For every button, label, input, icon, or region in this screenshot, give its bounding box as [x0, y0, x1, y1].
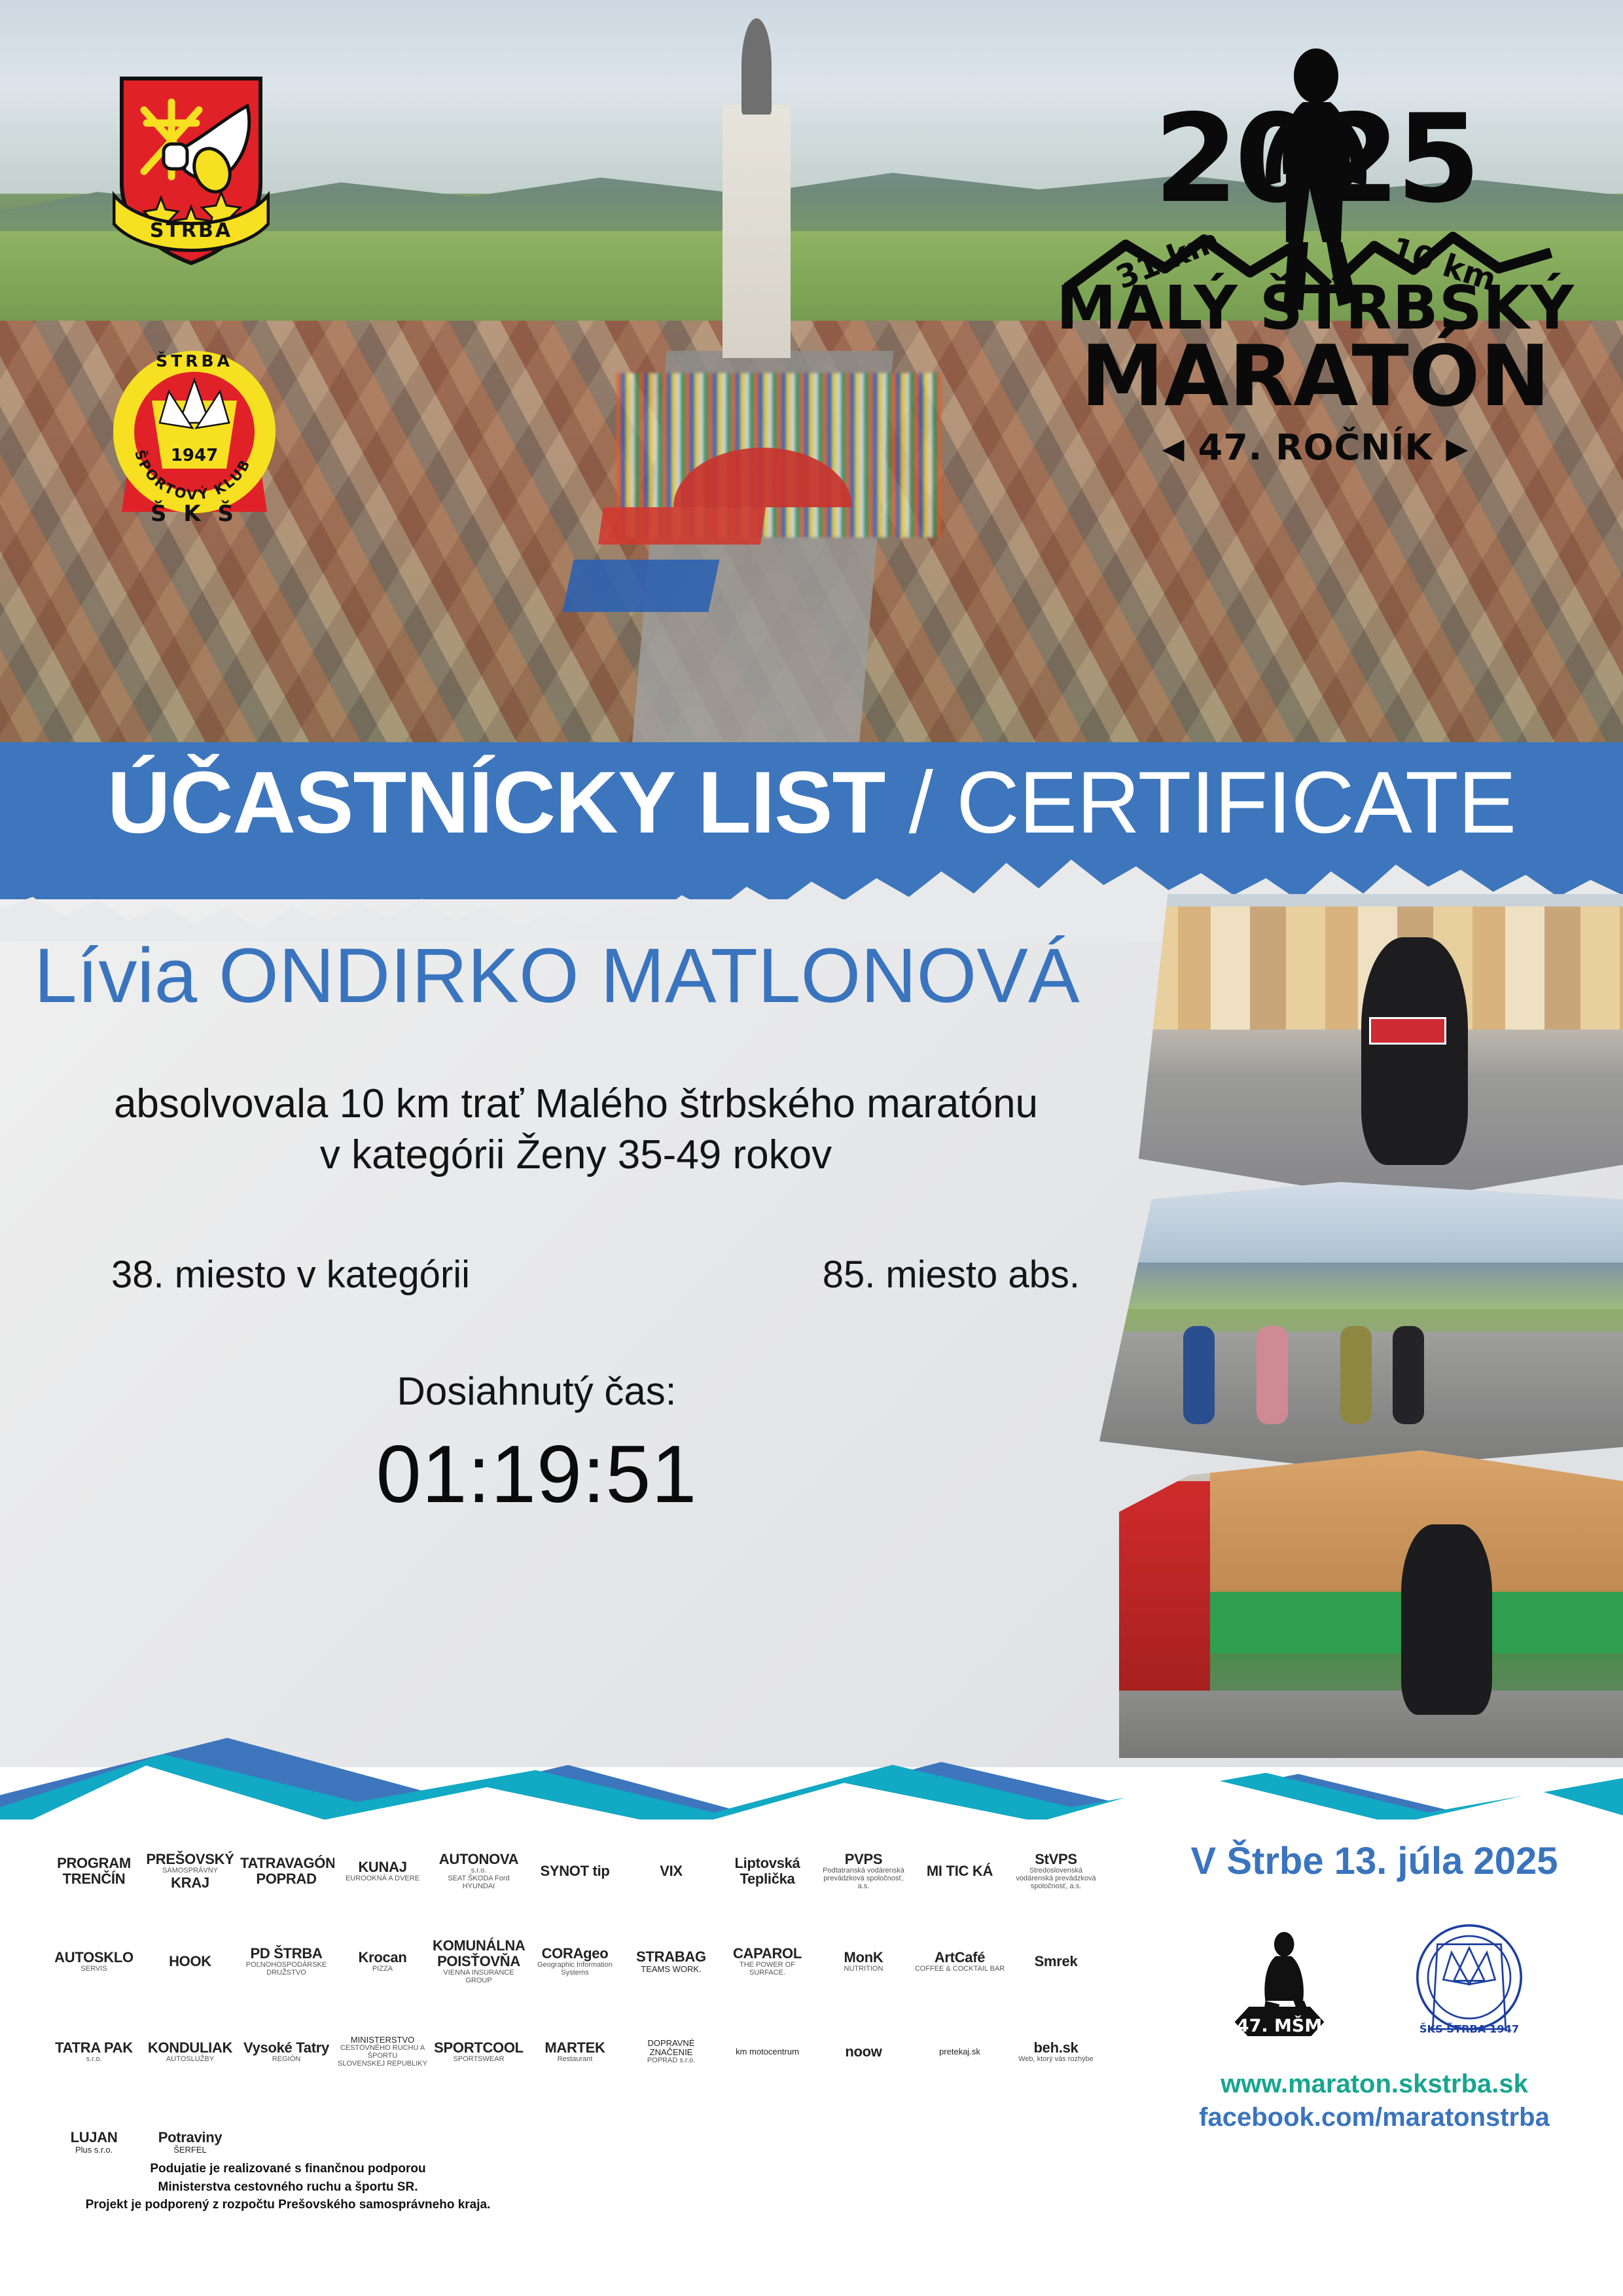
fine-print-line-1: Podujatie je realizované s finančnou pod… — [39, 2160, 537, 2178]
photo2-valley — [1099, 1263, 1623, 1308]
sponsor-logo[interactable]: KONDULIAKAUTOSLUŽBY — [142, 2007, 238, 2097]
sponsor-logo[interactable]: AUTONOVAs.r.o.SEAT ŠKODA Ford HYUNDAI — [431, 1826, 527, 1916]
sponsor-logo[interactable]: MonKNUTRITION — [815, 1916, 912, 2007]
photo2-sky — [1099, 1182, 1623, 1268]
description-line-2: v kategórii Ženy 35-49 rokov — [0, 1130, 1152, 1181]
sponsor-logo[interactable]: PREŠOVSKÝSAMOSPRÁVNYKRAJ — [142, 1826, 238, 1916]
sponsor-logo[interactable]: HOOK — [142, 1916, 238, 2007]
website-link[interactable]: www.maraton.skstrba.sk — [1152, 2070, 1597, 2099]
photo2-runner-4 — [1393, 1326, 1424, 1424]
sponsor-logo[interactable]: beh.skWeb, ktorý vás rozhýbe — [1008, 2007, 1104, 2097]
certificate-description: absolvovala 10 km trať Malého štrbského … — [0, 1079, 1178, 1181]
sponsor-logo[interactable]: PVPSPodtatranská vodárenská prevádzková … — [815, 1826, 912, 1916]
photo3-red-costume — [1119, 1481, 1210, 1709]
sponsor-footer: PROGRAM TRENČÍN PREŠOVSKÝSAMOSPRÁVNYKRAJ… — [0, 1820, 1623, 2296]
certificate-banner-text: ÚČASTNÍCKY LIST / CERTIFICATE — [0, 759, 1623, 847]
strba-coat-of-arms: ŠTRBA — [113, 72, 270, 268]
sks-year-label: 1947 — [171, 446, 218, 465]
banner-separator: / — [885, 754, 956, 852]
sponsor-logo[interactable]: ArtCaféCOFFEE & COCKTAIL BAR — [912, 1916, 1008, 2007]
msm-stamp: 47. MŠM — [1221, 1918, 1338, 2039]
sponsor-logo[interactable]: SYNOT tip — [527, 1826, 623, 1916]
sponsor-logo[interactable]: MINISTERSTVOCESTOVNÉHO RUCHU A ŠPORTUSLO… — [334, 2007, 431, 2097]
sponsor-logo[interactable]: AUTOSKLOSERVIS — [46, 1916, 142, 2007]
hero-blue-tent — [563, 560, 720, 612]
photo1-bib-number — [1369, 1017, 1446, 1045]
sponsor-logo[interactable]: StVPSStredoslovenská vodárenská prevádzk… — [1008, 1826, 1104, 1916]
photo1-runner — [1361, 937, 1468, 1165]
sponsor-logo[interactable]: KUNAJEUROOKNÁ A DVERE — [334, 1826, 431, 1916]
sponsor-logo[interactable]: Vysoké TatryREGIÓN — [238, 2007, 334, 2097]
finish-time-value: 01:19:51 — [0, 1428, 1178, 1521]
footer-right-column: V Štrbe 13. júla 2025 47. MŠM — [1152, 1820, 1597, 2132]
banner-title-sk: ÚČASTNÍCKY LIST — [107, 754, 885, 852]
photo3-runner — [1401, 1524, 1492, 1715]
sponsor-logo[interactable]: MARTEKRestaurant — [527, 2007, 623, 2097]
sponsor-logo[interactable]: STRABAGTEAMS WORK. — [623, 1916, 719, 2007]
sponsor-logo[interactable]: TATRAVAGÓNKAPOPRAD — [238, 1826, 334, 1916]
crest-label: ŠTRBA — [150, 218, 232, 242]
sponsor-logo-grid: PROGRAM TRENČÍN PREŠOVSKÝSAMOSPRÁVNYKRAJ… — [46, 1826, 1152, 2187]
sks-bottom-label: Š K Š — [151, 500, 238, 527]
sponsor-logo[interactable]: KrocanPIZZA — [334, 1916, 431, 2007]
sponsor-logo[interactable]: pretekaj.sk — [912, 2007, 1008, 2097]
hero-red-tent — [598, 507, 766, 545]
place-absolute: 85. miesto abs. — [823, 1253, 1080, 1297]
footer-links: www.maraton.skstrba.sk facebook.com/mara… — [1152, 2070, 1597, 2132]
sponsor-logo[interactable]: Smrek — [1008, 1916, 1104, 2007]
event-date: V Štrbe 13. júla 2025 — [1152, 1839, 1597, 1883]
place-in-category: 38. miesto v kategórii — [111, 1253, 470, 1297]
fine-print-line-2: Ministerstva cestovného ruchu a športu S… — [39, 2178, 537, 2197]
description-line-1: absolvovala 10 km trať Malého štrbského … — [0, 1079, 1152, 1130]
sponsor-logo[interactable]: MI TIC KÁ — [912, 1826, 1008, 1916]
sponsor-logo[interactable]: DOPRAVNÉ ZNAČENIEPOPRAD s.r.o. — [623, 2007, 719, 2097]
fine-print-line-3: Projekt je podporený z rozpočtu Prešovsk… — [39, 2196, 537, 2214]
time-label: Dosiahnutý čas: — [0, 1369, 1178, 1414]
placement-row: 38. miesto v kategórii 85. miesto abs. — [0, 1253, 1178, 1297]
sks-club-emblem: ŠTRBA 1947 ŠPORTOVÝ KLUB Š K Š — [106, 340, 283, 530]
sponsor-logo[interactable]: KOMUNÁLNAPOISŤOVŇAVIENNA INSURANCE GROUP — [431, 1916, 527, 2007]
arrow-left-icon: ◀ — [1149, 432, 1198, 465]
sponsor-logo[interactable]: noow — [815, 2007, 912, 2097]
participant-name: Lívia ONDIRKO MATLONOVÁ — [0, 936, 1178, 1017]
hero-church — [722, 105, 791, 359]
banner-title-en: CERTIFICATE — [956, 754, 1516, 852]
sks-stamp: ŠKS ŠTRBA 1947 — [1410, 1918, 1528, 2039]
sponsor-logo[interactable]: km motocentrum — [719, 2007, 815, 2097]
sponsor-logo[interactable]: LiptovskáTeplička — [719, 1826, 815, 1916]
certificate-banner: ÚČASTNÍCKY LIST / CERTIFICATE — [0, 742, 1623, 899]
sponsor-logo[interactable]: TATRA PAKs.r.o. — [46, 2007, 142, 2097]
photo2-runner-2 — [1257, 1326, 1288, 1424]
edition-label: 47. ROČNÍK — [1198, 427, 1433, 468]
photo-runners-group — [1099, 1182, 1623, 1470]
arrow-right-icon: ▶ — [1433, 432, 1482, 465]
photo2-runner-3 — [1340, 1326, 1372, 1424]
sponsor-logo[interactable]: PD ŠTRBAPOĽNOHOSPODÁRSKE DRUŽSTVO — [238, 1916, 334, 2007]
photo2-runner-1 — [1183, 1326, 1215, 1424]
marathon-edition: ◀47. ROČNÍK▶ — [1054, 427, 1577, 468]
marathon-logo: 2025 31 km 10 km MALÝ ŠTRBSKÝ MARATÓN ◀4… — [1054, 33, 1577, 596]
sponsor-logo[interactable]: PROGRAM TRENČÍN — [46, 1826, 142, 1916]
marathon-year: 2025 — [1054, 98, 1577, 220]
sponsor-logo[interactable]: SPORTCOOLSPORTSWEAR — [431, 2007, 527, 2097]
photo-collage — [1099, 894, 1623, 1758]
funding-fine-print: Podujatie je realizované s finančnou pod… — [39, 2160, 537, 2214]
photo-finisher — [1139, 894, 1623, 1202]
sks-stamp-label: ŠKS ŠTRBA 1947 — [1419, 2023, 1519, 2036]
sponsor-logo[interactable]: CAPAROLTHE POWER OF SURFACE. — [719, 1916, 815, 2007]
marathon-title-line2: MARATÓN — [1054, 338, 1577, 416]
facebook-link[interactable]: facebook.com/maratonstrba — [1152, 2103, 1597, 2132]
sponsor-logo[interactable]: VIX — [623, 1826, 719, 1916]
sponsor-logo[interactable]: CORAgeoGeographic Information Systems — [527, 1916, 623, 2007]
sks-top-label: ŠTRBA — [156, 351, 233, 370]
footer-marks: 47. MŠM ŠKS ŠTRBA 1947 — [1152, 1918, 1597, 2039]
msm-label: 47. MŠM — [1237, 2015, 1322, 2036]
certificate-content: Lívia ONDIRKO MATLONOVÁ absolvovala 10 k… — [0, 936, 1178, 1521]
